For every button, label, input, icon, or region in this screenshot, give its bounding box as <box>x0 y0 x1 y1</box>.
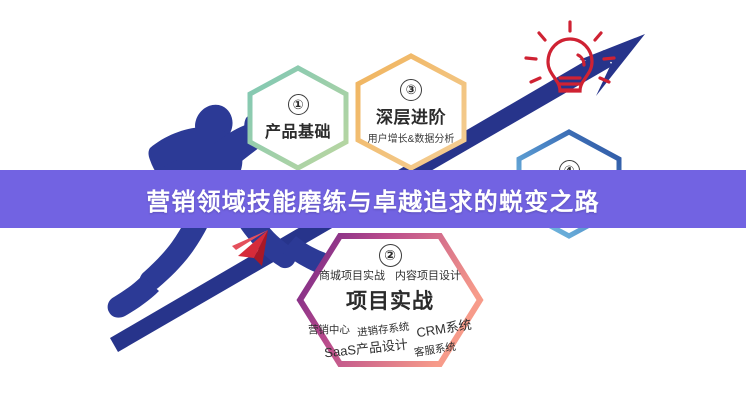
tag-item: 内容项目设计 <box>395 267 461 283</box>
tag-item: 客服系统 <box>413 338 457 359</box>
tag-item: 营销中心 <box>308 322 350 337</box>
hexagon-1-title: 产品基础 <box>265 118 331 142</box>
hexagon-2-number: ② <box>379 244 402 267</box>
hexagon-2-tags-mid: 营销中心 进销存系统 CRM系统 <box>308 318 472 337</box>
tag-item: SaaS产品设计 <box>323 333 408 361</box>
hexagon-2-tags-bot: SaaS产品设计 客服系统 <box>324 338 456 357</box>
hexagon-3-subtitle: 用户增长&数据分析 <box>368 130 455 145</box>
hexagon-2-title: 项目实战 <box>346 285 434 315</box>
hexagon-1-number: ① <box>288 94 309 115</box>
hexagon-2-tags-top: 商城项目实战 内容项目设计 <box>319 267 461 283</box>
hexagon-card-3[interactable]: ③ 深层进阶 用户增长&数据分析 <box>352 52 470 172</box>
paper-plane-icon <box>232 230 268 266</box>
hexagon-3-number: ③ <box>400 79 422 101</box>
hexagon-card-2[interactable]: ② 商城项目实战 内容项目设计 项目实战 营销中心 进销存系统 CRM系统 Sa… <box>296 232 484 368</box>
poster-canvas: ① 产品基础 ③ 深层进阶 用户增长&数据分析 ④ 就业指导 营销领域技能磨练与… <box>0 0 746 400</box>
tag-item: 商城项目实战 <box>319 267 385 283</box>
title-banner: 营销领域技能磨练与卓越追求的蜕变之路 <box>0 170 746 228</box>
hexagon-card-1[interactable]: ① 产品基础 <box>244 64 352 172</box>
hexagon-3-title: 深层进阶 <box>376 103 446 128</box>
lightbulb-icon <box>526 22 614 91</box>
page-title: 营销领域技能磨练与卓越追求的蜕变之路 <box>146 182 600 217</box>
tag-item: CRM系统 <box>415 313 473 340</box>
